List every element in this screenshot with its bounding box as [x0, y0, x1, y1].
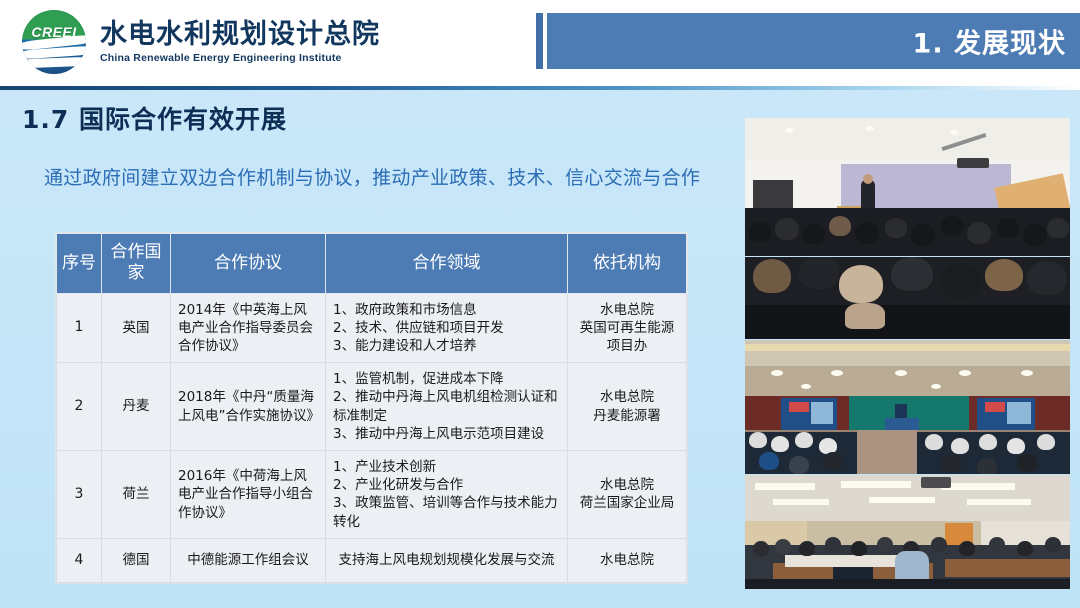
cell-org: 水电总院 丹麦能源署: [568, 363, 687, 451]
photo-meeting-room: [745, 475, 1070, 589]
cell-fields: 1、产业技术创新 2、产业化研发与合作 3、政策监管、培训等合作与技术能力转化: [326, 451, 568, 539]
cell-fields: 支持海上风电规划规模化发展与交流: [326, 538, 568, 582]
institute-name-en: China Renewable Energy Engineering Insti…: [100, 52, 380, 64]
col-header-field: 合作领域: [326, 234, 568, 294]
institute-logo: CREEI 水电水利规划设计总院 China Renewable Energy …: [22, 10, 380, 74]
photo-stack: [745, 118, 1070, 589]
slide-header: CREEI 水电水利规划设计总院 China Renewable Energy …: [0, 0, 1080, 88]
table-row: 3 荷兰 2016年《中荷海上风电产业合作指导小组合作协议》 1、产业技术创新 …: [57, 451, 687, 539]
photo-auditorium: [745, 340, 1070, 474]
org-line: 英国可再生能源: [575, 319, 679, 337]
field-item: 1、政府政策和市场信息: [333, 301, 560, 319]
cell-org: 水电总院 英国可再生能源 项目办: [568, 293, 687, 363]
cell-country: 丹麦: [102, 363, 171, 451]
org-line: 水电总院: [575, 476, 679, 494]
field-item: 2、产业化研发与合作: [333, 476, 560, 494]
cell-no: 4: [57, 538, 102, 582]
field-item: 3、能力建设和人才培养: [333, 337, 560, 355]
col-header-org: 依托机构: [568, 234, 687, 294]
institute-name-block: 水电水利规划设计总院 China Renewable Energy Engine…: [100, 20, 380, 64]
field-item: 2、推动中丹海上风电机组检测认证和标准制定: [333, 388, 560, 424]
cell-no: 3: [57, 451, 102, 539]
cell-agreement: 2018年《中丹“质量海上风电”合作实施协议》: [171, 363, 326, 451]
cell-no: 2: [57, 363, 102, 451]
logo-wave-icon: [22, 57, 86, 69]
lead-paragraph: 通过政府间建立双边合作机制与协议，推动产业政策、技术、信心交流与合作: [44, 165, 704, 193]
col-header-no: 序号: [57, 234, 102, 294]
org-line: 水电总院: [575, 551, 679, 569]
table-header-row: 序号 合作国家 合作协议 合作领域 依托机构: [57, 234, 687, 294]
cell-org: 水电总院 荷兰国家企业局: [568, 451, 687, 539]
cooperation-table: 序号 合作国家 合作协议 合作领域 依托机构 1 英国 2014年《中英海上风电…: [56, 233, 687, 583]
cell-agreement: 2016年《中荷海上风电产业合作指导小组合作协议》: [171, 451, 326, 539]
field-item: 2、技术、供应链和项目开发: [333, 319, 560, 337]
cell-org: 水电总院: [568, 538, 687, 582]
cell-agreement: 中德能源工作组会议: [171, 538, 326, 582]
cell-fields: 1、监管机制，促进成本下降 2、推动中丹海上风电机组检测认证和标准制定 3、推动…: [326, 363, 568, 451]
cell-fields: 1、政府政策和市场信息 2、技术、供应链和项目开发 3、能力建设和人才培养: [326, 293, 568, 363]
org-line: 项目办: [575, 337, 679, 355]
cell-agreement: 2014年《中英海上风电产业合作指导委员会合作协议》: [171, 293, 326, 363]
photo-lecture-room: [745, 118, 1070, 256]
page-title: 1.7 国际合作有效开展: [22, 100, 287, 136]
field-item: 1、监管机制，促进成本下降: [333, 370, 560, 388]
section-tab-label: 1. 发展现状: [913, 22, 1066, 61]
org-line: 水电总院: [575, 301, 679, 319]
field-item: 支持海上风电规划规模化发展与交流: [333, 551, 560, 569]
table-row: 1 英国 2014年《中英海上风电产业合作指导委员会合作协议》 1、政府政策和市…: [57, 293, 687, 363]
col-header-country: 合作国家: [102, 234, 171, 294]
slide: CREEI 水电水利规划设计总院 China Renewable Energy …: [0, 0, 1080, 608]
section-tab: 1. 发展现状: [547, 13, 1080, 69]
org-line: 荷兰国家企业局: [575, 494, 679, 512]
field-item: 3、推动中丹海上风电示范项目建设: [333, 425, 560, 443]
field-item: 3、政策监管、培训等合作与技术能力转化: [333, 494, 560, 530]
header-accent-bar: [536, 13, 543, 69]
cell-country: 荷兰: [102, 451, 171, 539]
org-line: 水电总院: [575, 388, 679, 406]
col-header-agreement: 合作协议: [171, 234, 326, 294]
institute-name-cn: 水电水利规划设计总院: [100, 20, 380, 50]
photo-audience-backs: [745, 257, 1070, 339]
field-item: 1、产业技术创新: [333, 458, 560, 476]
cell-country: 英国: [102, 293, 171, 363]
org-line: 丹麦能源署: [575, 407, 679, 425]
cell-country: 德国: [102, 538, 171, 582]
table-row: 2 丹麦 2018年《中丹“质量海上风电”合作实施协议》 1、监管机制，促进成本…: [57, 363, 687, 451]
creei-logo-icon: CREEI: [22, 10, 86, 74]
table-row: 4 德国 中德能源工作组会议 支持海上风电规划规模化发展与交流 水电总院: [57, 538, 687, 582]
cell-no: 1: [57, 293, 102, 363]
